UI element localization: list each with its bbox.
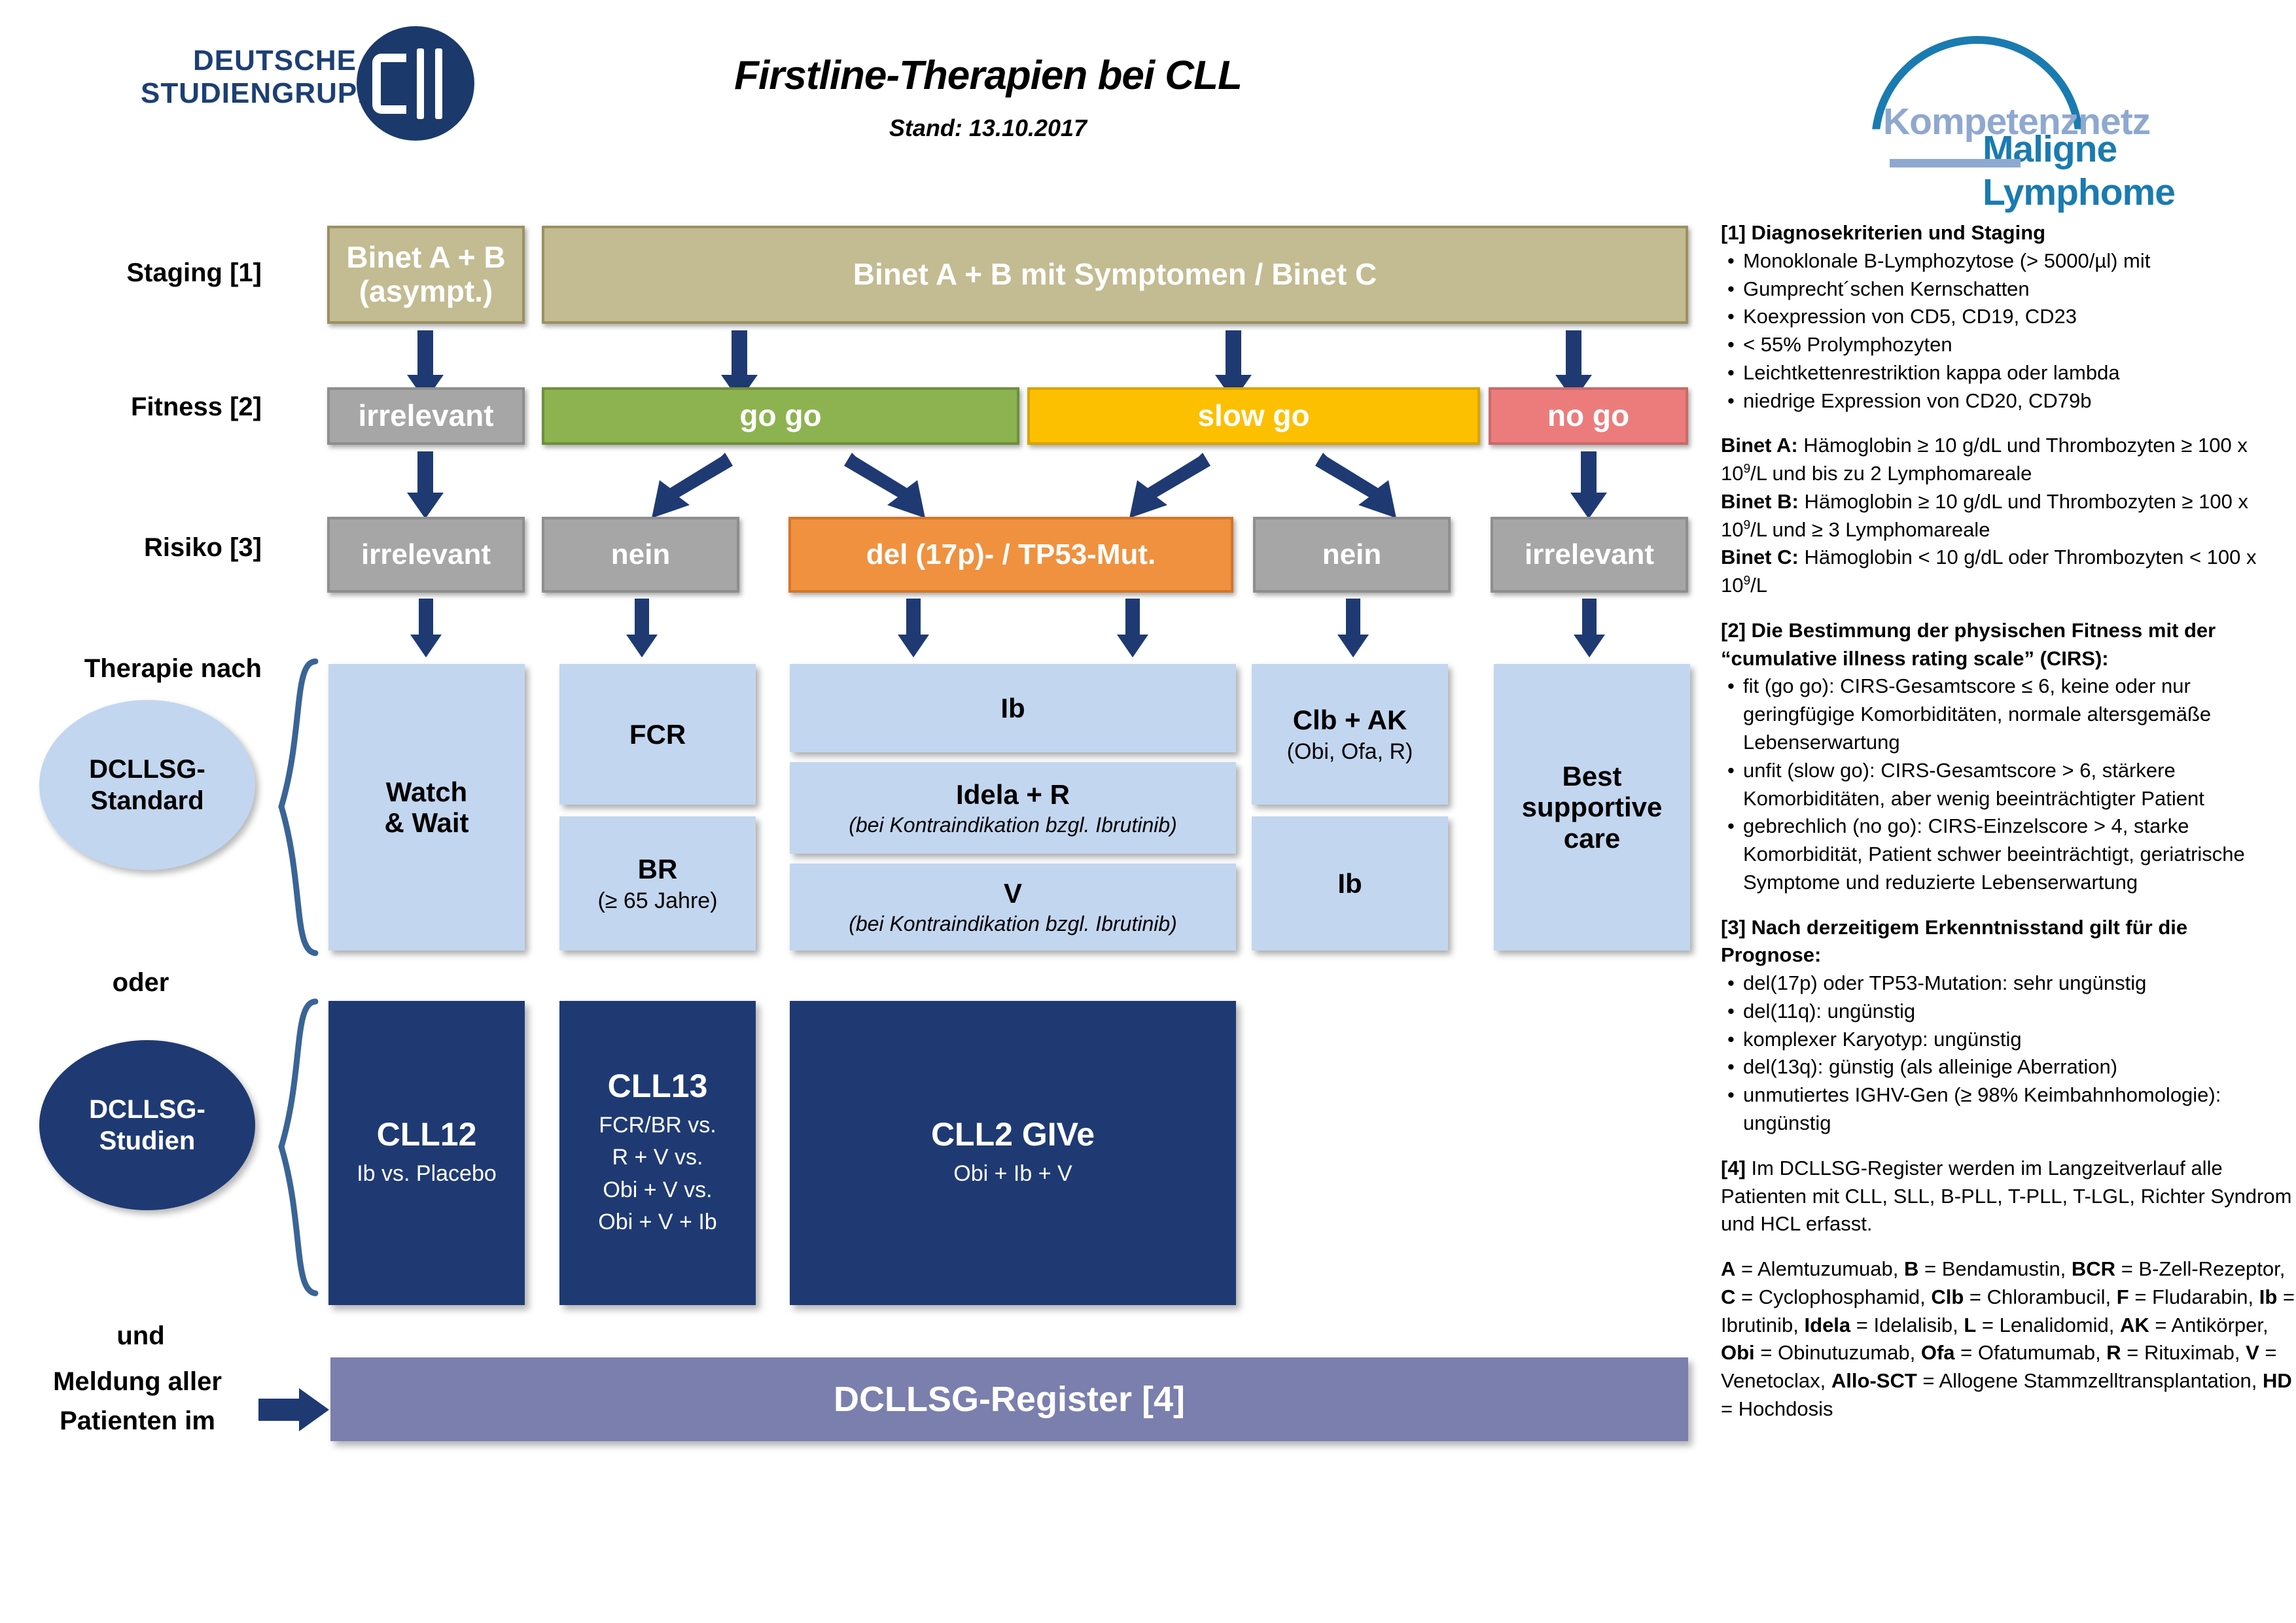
- study-cll2give-title: CLL2 GIVe: [931, 1116, 1095, 1153]
- note-4-text: Im DCLLSG-Register werden im Langzeitver…: [1721, 1157, 2291, 1236]
- row-label-therapie: Therapie nach: [20, 654, 262, 684]
- staging-box-0-line1: Binet A + B: [346, 241, 505, 275]
- risiko-box-4-label: irrelevant: [1525, 538, 1654, 570]
- study-cll12-title: CLL12: [377, 1116, 477, 1153]
- study-cll12-detail: Ib vs. Placebo: [357, 1158, 497, 1190]
- note-2: [2] Die Bestimmung der physischen Fitnes…: [1721, 617, 2296, 897]
- binet-b-text: Hämoglobin ≥ 10 g/dL und Thrombozyten ≥ …: [1721, 490, 2248, 541]
- note-1-item: Leichtkettenrestriktion kappa oder lambd…: [1743, 359, 2296, 387]
- notes-panel: [1] Diagnosekriterien und Staging Monokl…: [1721, 219, 2296, 1440]
- ellipse-dcllsg-studien[interactable]: DCLLSG- Studien: [39, 1040, 255, 1210]
- staging-box-1-line1: Binet A + B mit Symptomen / Binet C: [853, 258, 1377, 292]
- therapy-br-label: BR: [638, 854, 678, 884]
- ellipse-standard-line2: Standard: [89, 785, 205, 816]
- note-1-item: niedrige Expression von CD20, CD79b: [1743, 387, 2296, 415]
- note-4-label: [4]: [1721, 1157, 1746, 1179]
- arrow-to-register: [258, 1387, 330, 1433]
- study-box-cll2-give[interactable]: CLL2 GIVe Obi + Ib + V: [790, 1001, 1236, 1305]
- note-4: [4] Im DCLLSG-Register werden im Langzei…: [1721, 1155, 2296, 1238]
- logo-rule: [1890, 159, 2021, 167]
- fitness-box-no-go[interactable]: no go: [1489, 387, 1688, 445]
- risiko-box-0-label: irrelevant: [361, 538, 491, 570]
- page-subtitle: Stand: 13.10.2017: [654, 114, 1322, 142]
- risiko-box-nein-right[interactable]: nein: [1253, 517, 1451, 593]
- study-box-cll13[interactable]: CLL13 FCR/BR vs. R + V vs. Obi + V vs. O…: [559, 1001, 756, 1305]
- note-1: [1] Diagnosekriterien und Staging Monokl…: [1721, 219, 2296, 415]
- dcllsg-logo-wordmark: DEUTSCHE STUDIENGRUPPE: [141, 44, 357, 110]
- bar-icon-1: [417, 48, 424, 119]
- binet-c-text: Hämoglobin < 10 g/dL oder Thrombozyten <…: [1721, 546, 2257, 597]
- note-2-list: fit (go go): CIRS-Gesamtscore ≤ 6, keine…: [1721, 672, 2296, 896]
- note-3-item: unmutiertes IGHV-Gen (≥ 98% Keimbahnhomo…: [1743, 1081, 2296, 1138]
- study-box-cll12[interactable]: CLL12 Ib vs. Placebo: [328, 1001, 525, 1305]
- binet-c-label: Binet C:: [1721, 546, 1799, 568]
- binet-a-text: Hämoglobin ≥ 10 g/dL und Thrombozyten ≥ …: [1721, 434, 2248, 485]
- fitness-box-1-label: go go: [739, 399, 821, 433]
- arrow-risiko-to-therapy-2a: [896, 599, 930, 659]
- therapy-box-ib-right[interactable]: Ib: [1252, 816, 1448, 951]
- note-2-title-line1: [2] Die Bestimmung der physischen Fitnes…: [1721, 617, 2296, 645]
- note-1-item: Gumprecht´schen Kernschatten: [1743, 275, 2296, 304]
- binet-definitions: Binet A: Hämoglobin ≥ 10 g/dL und Thromb…: [1721, 432, 2296, 600]
- maligne-lymphome-label: Maligne Lymphome: [1983, 128, 2251, 214]
- therapy-idela-label: Idela + R: [956, 779, 1070, 810]
- note-1-list: Monoklonale B-Lymphozytose (> 5000/µl) m…: [1721, 247, 2296, 415]
- therapy-idela-sub: (bei Kontraindikation bzgl. Ibrutinib): [849, 814, 1177, 837]
- note-1-item: Koexpression von CD5, CD19, CD23: [1743, 303, 2296, 331]
- note-2-item: unfit (slow go): CIRS-Gesamtscore > 6, s…: [1743, 757, 2296, 813]
- register-bar[interactable]: DCLLSG-Register [4]: [330, 1357, 1688, 1441]
- therapy-ib-right-label: Ib: [1337, 868, 1362, 899]
- row-label-meldung-line1: Meldung aller: [13, 1367, 262, 1397]
- arrow-fitness-to-risiko-0: [406, 451, 445, 520]
- therapy-clb-label: Clb + AK: [1293, 705, 1407, 735]
- binet-a-label: Binet A:: [1721, 434, 1798, 457]
- binet-b-label: Binet B:: [1721, 490, 1799, 513]
- therapy-watch-line1: Watch: [386, 777, 467, 807]
- row-label-fitness: Fitness [2]: [39, 393, 262, 422]
- therapy-watch-line2: & Wait: [384, 807, 468, 838]
- page-title: Firstline-Therapien bei CLL: [654, 52, 1322, 99]
- therapy-ib-label: Ib: [1000, 693, 1025, 724]
- risiko-box-del17p-tp53[interactable]: del (17p)- / TP53-Mut.: [788, 517, 1233, 593]
- ellipse-standard-line1: DCLLSG-: [89, 754, 205, 785]
- row-label-risiko: Risiko [3]: [39, 533, 262, 563]
- therapy-box-ib[interactable]: Ib: [790, 664, 1236, 752]
- dcllsg-logo-line2: STUDIENGRUPPE: [141, 77, 357, 110]
- therapy-v-label: V: [1004, 878, 1022, 909]
- note-1-title: [1] Diagnosekriterien und Staging: [1721, 219, 2296, 247]
- dcllsg-logo: DEUTSCHE STUDIENGRUPPE: [141, 20, 507, 144]
- ellipse-studien-line2: Studien: [89, 1125, 205, 1157]
- bracket-studien: [275, 998, 322, 1299]
- c-shape-icon: [372, 54, 406, 114]
- note-2-item: fit (go go): CIRS-Gesamtscore ≤ 6, keine…: [1743, 672, 2296, 756]
- risiko-box-1-label: nein: [611, 538, 670, 570]
- binet-c: Binet C: Hämoglobin < 10 g/dL oder Throm…: [1721, 544, 2296, 600]
- risiko-box-irrelevant-right[interactable]: irrelevant: [1491, 517, 1688, 593]
- risiko-box-3-label: nein: [1322, 538, 1381, 570]
- study-cll13-title: CLL13: [608, 1068, 708, 1104]
- therapy-box-best-supportive-care[interactable]: Best supportive care: [1494, 664, 1690, 951]
- study-cll2give-detail: Obi + Ib + V: [953, 1158, 1072, 1190]
- fitness-box-3-label: no go: [1547, 399, 1629, 433]
- bar-icon-2: [435, 48, 442, 119]
- arrow-risiko-to-therapy-0: [409, 599, 443, 659]
- therapy-v-sub: (bei Kontraindikation bzgl. Ibrutinib): [849, 913, 1177, 936]
- arrow-fitness-to-risiko-4: [1569, 451, 1608, 520]
- binet-b: Binet B: Hämoglobin ≥ 10 g/dL und Thromb…: [1721, 488, 2296, 544]
- note-3-list: del(17p) oder TP53-Mutation: sehr ungüns…: [1721, 969, 2296, 1138]
- abbreviations: A = Alemtuzumuab, B = Bendamustin, BCR =…: [1721, 1255, 2296, 1423]
- staging-box-0-line2: (asympt.): [359, 275, 493, 309]
- therapy-bsc-line2: supportive: [1522, 792, 1663, 822]
- binet-a: Binet A: Hämoglobin ≥ 10 g/dL und Thromb…: [1721, 432, 2296, 488]
- kompetenznetz-logo: Kompetenznetz Maligne Lymphome: [1852, 36, 2251, 154]
- note-2-item: gebrechlich (no go): CIRS-Einzelscore > …: [1743, 812, 2296, 896]
- note-3-title-line1: [3] Nach derzeitigem Erkenntnisstand gil…: [1721, 914, 2296, 942]
- dcllsg-oval-icon: [357, 26, 474, 141]
- therapy-box-clb-ak[interactable]: Clb + AK (Obi, Ofa, R): [1252, 664, 1448, 805]
- therapy-box-fcr[interactable]: FCR: [559, 664, 756, 805]
- therapy-box-v[interactable]: V (bei Kontraindikation bzgl. Ibrutinib): [790, 864, 1236, 951]
- row-label-und: und: [20, 1321, 262, 1351]
- note-3-item: del(11q): ungünstig: [1743, 998, 2296, 1026]
- note-1-item: Monoklonale B-Lymphozytose (> 5000/µl) m…: [1743, 247, 2296, 275]
- therapy-box-watch-wait[interactable]: Watch & Wait: [328, 664, 525, 951]
- register-label: DCLLSG-Register [4]: [834, 1379, 1185, 1420]
- note-3: [3] Nach derzeitigem Erkenntnisstand gil…: [1721, 914, 2296, 1138]
- note-1-item: < 55% Prolymphozyten: [1743, 331, 2296, 359]
- fitness-box-irrelevant[interactable]: irrelevant: [327, 387, 525, 445]
- staging-box-asymptomatic[interactable]: Binet A + B (asympt.): [327, 226, 525, 324]
- note-2-title-line2: “cumulative illness rating scale” (CIRS)…: [1721, 645, 2296, 673]
- note-3-item: del(13q): günstig (als alleinige Aberrat…: [1743, 1053, 2296, 1081]
- arrow-risiko-to-therapy-2b: [1116, 599, 1150, 659]
- therapy-br-sub: (≥ 65 Jahre): [597, 888, 717, 913]
- fitness-box-0-label: irrelevant: [358, 399, 493, 433]
- fitness-box-slow-go[interactable]: slow go: [1027, 387, 1480, 445]
- arrow-slow-go-to-del17p: [1125, 450, 1210, 521]
- row-label-meldung-line2: Patienten im: [13, 1406, 262, 1436]
- risiko-box-2-label: del (17p)- / TP53-Mut.: [866, 538, 1156, 570]
- arrow-go-go-to-del17p: [844, 450, 929, 521]
- therapy-box-br[interactable]: BR (≥ 65 Jahre): [559, 816, 756, 951]
- bracket-standard: [275, 657, 322, 958]
- therapy-clb-sub: (Obi, Ofa, R): [1287, 739, 1413, 764]
- staging-box-symptomatic[interactable]: Binet A + B mit Symptomen / Binet C: [542, 226, 1688, 324]
- arrow-risiko-to-therapy-3: [1336, 599, 1370, 659]
- fitness-box-go-go[interactable]: go go: [542, 387, 1019, 445]
- note-3-item: komplexer Karyotyp: ungünstig: [1743, 1026, 2296, 1054]
- fitness-box-2-label: slow go: [1197, 399, 1309, 433]
- dcllsg-logo-line1: DEUTSCHE: [141, 44, 357, 77]
- arrow-go-go-to-nein: [648, 450, 733, 521]
- therapy-fcr-label: FCR: [629, 719, 686, 750]
- arrow-risiko-to-therapy-4: [1572, 599, 1606, 659]
- row-label-oder: oder: [20, 968, 262, 998]
- risiko-box-irrelevant-left[interactable]: irrelevant: [327, 517, 525, 593]
- note-3-item: del(17p) oder TP53-Mutation: sehr ungüns…: [1743, 969, 2296, 998]
- risiko-box-nein-left[interactable]: nein: [542, 517, 739, 593]
- therapy-bsc-line1: Best: [1562, 761, 1621, 792]
- therapy-box-idela-r[interactable]: Idela + R (bei Kontraindikation bzgl. Ib…: [790, 762, 1236, 854]
- arrow-risiko-to-therapy-1: [625, 599, 659, 659]
- note-3-title-line2: Prognose:: [1721, 941, 2296, 969]
- arrow-slow-go-to-nein: [1315, 450, 1400, 521]
- ellipse-dcllsg-standard[interactable]: DCLLSG- Standard: [39, 700, 255, 870]
- study-cll13-detail: FCR/BR vs. R + V vs. Obi + V vs. Obi + V…: [598, 1109, 716, 1238]
- row-label-staging: Staging [1]: [39, 258, 262, 288]
- ellipse-studien-line1: DCLLSG-: [89, 1094, 205, 1125]
- therapy-bsc-line3: care: [1564, 823, 1620, 854]
